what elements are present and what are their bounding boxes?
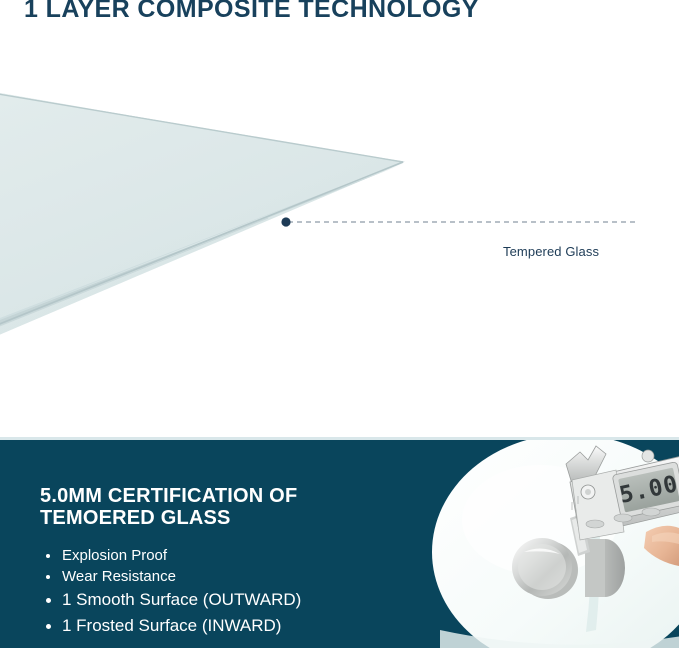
caliper-button [614,514,632,522]
spec-heading-line-1: 5.0MM CERTIFICATION OF [40,485,370,507]
standoff-rear [585,539,625,597]
feature-list: Explosion Proof Wear Resistance 1 Smooth… [40,545,380,639]
glass-sheet-svg [0,40,679,438]
list-item: 1 Frosted Surface (INWARD) [40,613,380,639]
caliper-button [642,508,660,516]
list-item: 1 Smooth Surface (OUTWARD) [40,587,380,613]
caliper-measuring-glass-photo: 5.00 [420,440,679,648]
glass-diagram: Tempered Glass [0,40,679,438]
product-infographic: 1 LAYER COMPOSITE TECHNOLOGY [0,0,679,648]
photo-svg: 5.00 [420,440,679,648]
list-item: Explosion Proof [40,545,380,566]
callout-label-tempered-glass: Tempered Glass [503,244,599,259]
spec-heading-line-2: TEMOERED GLASS [40,507,370,529]
callout-anchor-dot [281,217,290,226]
page-title: 1 LAYER COMPOSITE TECHNOLOGY [24,0,479,24]
list-item: Wear Resistance [40,566,380,587]
caliper-button [586,520,604,528]
spec-heading: 5.0MM CERTIFICATION OF TEMOERED GLASS [40,485,370,529]
glass-top-surface [0,93,403,321]
